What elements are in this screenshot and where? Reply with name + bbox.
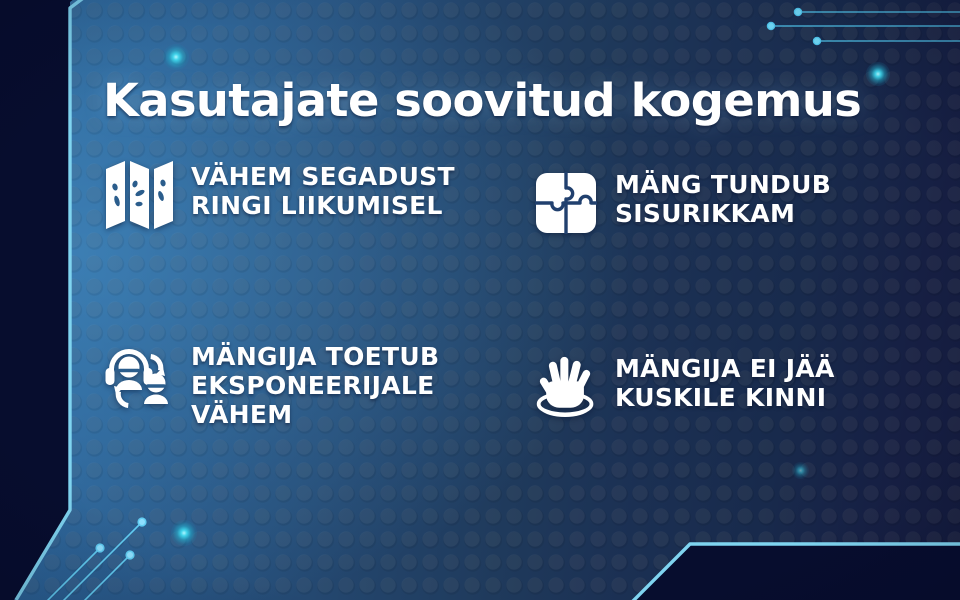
glow-dot — [866, 62, 890, 86]
glow-dot — [792, 462, 809, 479]
page-title: Kasutajate soovitud kogemus — [103, 74, 861, 127]
hand-out-of-hole-icon — [533, 350, 599, 424]
folded-map-icon — [103, 158, 177, 232]
glow-dot — [163, 44, 189, 70]
top-left-panel — [0, 0, 86, 600]
feature-item: VÄHEM SEGADUST RINGI LIIKUMISEL — [103, 158, 521, 232]
slide-canvas: Kasutajate soovitud kogemus — [0, 0, 960, 600]
feature-label: MÄNGIJA EI JÄÄ KUSKILE KINNI — [615, 350, 903, 412]
feature-label: MÄNG TUNDUB SISURIKKAM — [615, 166, 903, 228]
puzzle-pieces-icon — [533, 166, 599, 240]
feature-item: MÄNGIJA EI JÄÄ KUSKILE KINNI — [533, 350, 903, 424]
bottom-left-circuit-lines — [5, 518, 146, 600]
headset-support-swap-icon — [103, 338, 177, 412]
bottom-right-panel — [622, 544, 960, 600]
feature-list: VÄHEM SEGADUST RINGI LIIKUMISEL MÄNG TUN… — [103, 158, 903, 458]
feature-label: VÄHEM SEGADUST RINGI LIIKUMISEL — [191, 158, 521, 220]
top-right-circuit-lines — [767, 8, 960, 44]
glow-dot — [171, 520, 197, 546]
feature-item: MÄNGIJA TOETUB EKSPONEERIJALE VÄHEM — [103, 338, 521, 429]
feature-label: MÄNGIJA TOETUB EKSPONEERIJALE VÄHEM — [191, 338, 521, 429]
feature-item: MÄNG TUNDUB SISURIKKAM — [533, 166, 903, 240]
